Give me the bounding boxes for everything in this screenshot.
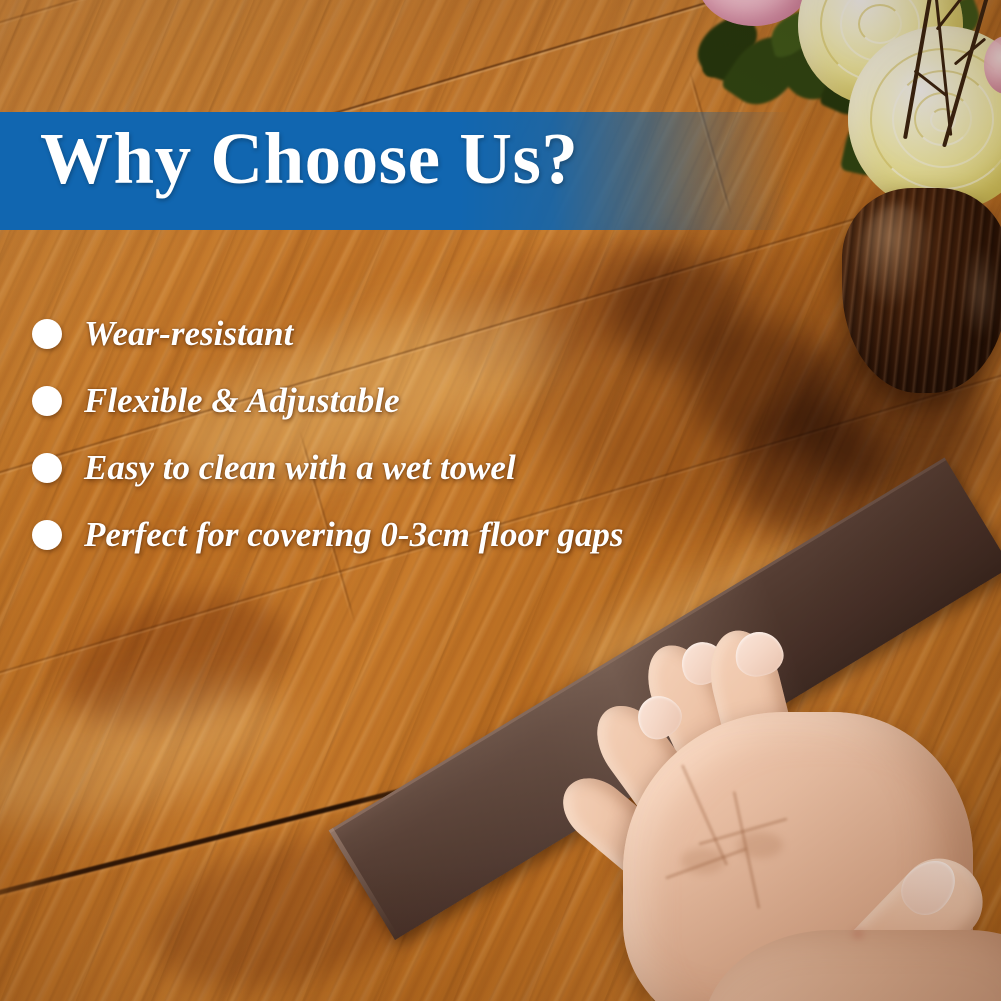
feature-label: Flexible & Adjustable (84, 383, 400, 418)
product-feature-image: Why Choose Us? Wear-resistant Flexible &… (0, 0, 1001, 1001)
list-item: Easy to clean with a wet towel (32, 434, 752, 501)
vase-highlight (962, 245, 999, 339)
list-item: Perfect for covering 0-3cm floor gaps (32, 501, 752, 568)
feature-label: Perfect for covering 0-3cm floor gaps (84, 517, 623, 552)
bullet-dot-icon (32, 453, 62, 483)
feature-list: Wear-resistant Flexible & Adjustable Eas… (32, 300, 752, 568)
twig (942, 0, 990, 147)
glass-vase (842, 188, 1001, 393)
human-hand (585, 600, 1001, 1001)
skin-mark (853, 930, 863, 938)
bullet-dot-icon (32, 319, 62, 349)
twig (903, 0, 933, 139)
list-item: Wear-resistant (32, 300, 752, 367)
knuckle (737, 832, 783, 858)
vase-highlight (859, 204, 935, 311)
twig (936, 0, 967, 31)
decorative-twigs (898, 0, 1001, 170)
feature-label: Wear-resistant (84, 316, 293, 351)
feature-label: Easy to clean with a wet towel (84, 450, 516, 485)
knuckle (681, 848, 725, 874)
bullet-dot-icon (32, 520, 62, 550)
bullet-dot-icon (32, 386, 62, 416)
list-item: Flexible & Adjustable (32, 367, 752, 434)
page-title: Why Choose Us? (40, 122, 578, 195)
